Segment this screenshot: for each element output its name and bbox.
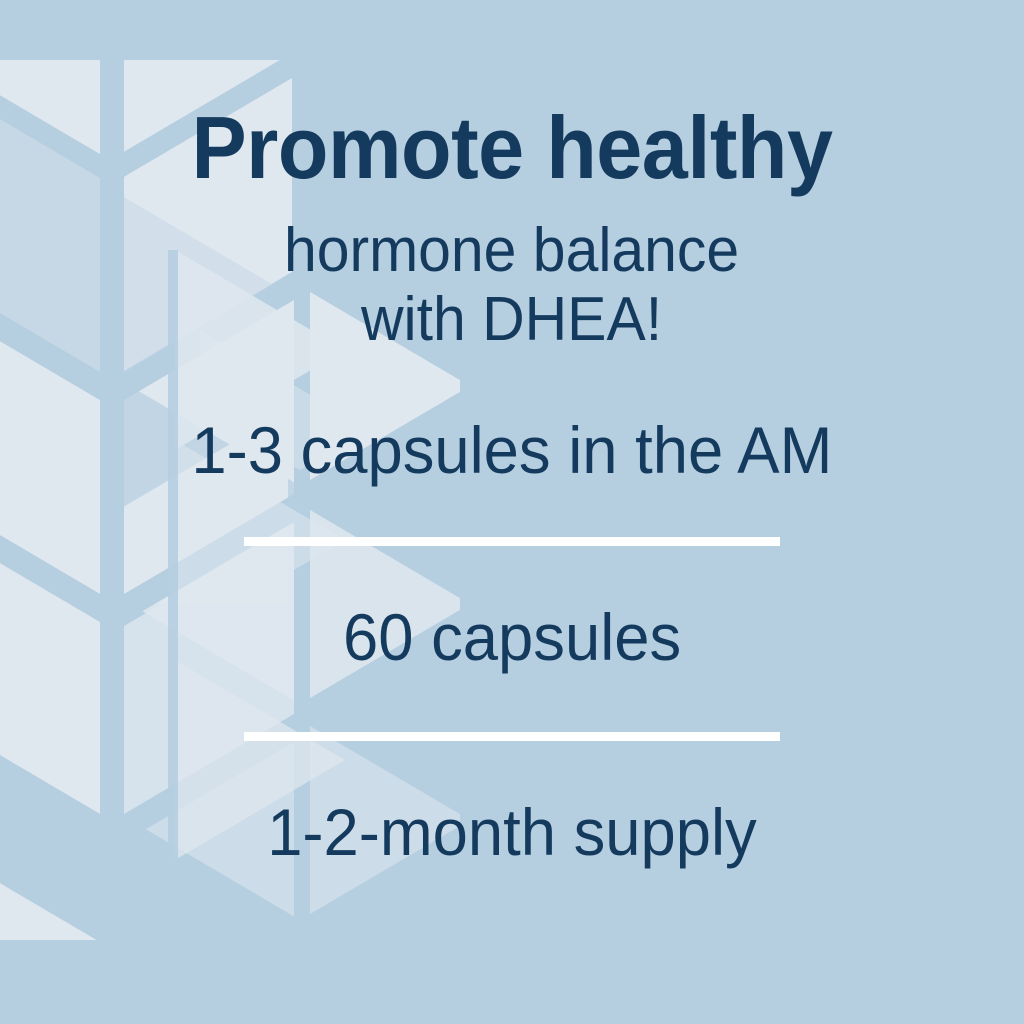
- fact-supply: 1-2-month supply: [267, 799, 757, 865]
- subtitle-line-1: hormone balance: [284, 216, 739, 285]
- subtitle: hormone balance with DHEA!: [284, 216, 739, 355]
- divider-bottom: [244, 732, 780, 741]
- promo-card: Promote healthy hormone balance with DHE…: [0, 0, 1024, 1024]
- divider-top: [244, 537, 780, 546]
- content-stack: Promote healthy hormone balance with DHE…: [0, 0, 1024, 1024]
- page-title: Promote healthy: [191, 104, 832, 192]
- fact-dose: 1-3 capsules in the AM: [191, 417, 832, 483]
- fact-count: 60 capsules: [343, 604, 681, 670]
- subtitle-line-2: with DHEA!: [284, 285, 739, 354]
